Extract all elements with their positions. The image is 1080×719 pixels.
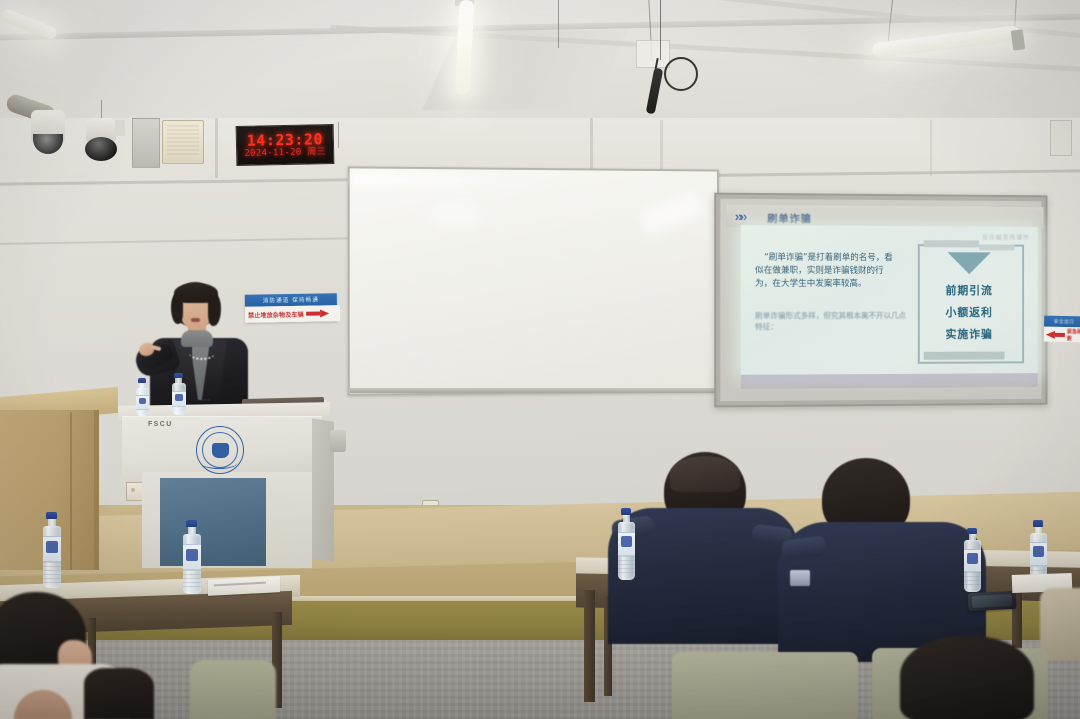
light-cap (1011, 29, 1025, 50)
light-suspension-wire (558, 0, 559, 48)
emblem-arc (201, 458, 237, 469)
slide-diagram-bar (979, 244, 1014, 250)
bottle-ridges (183, 570, 201, 590)
sign-body: 紧急疏散 (1044, 327, 1080, 343)
podium-blue-panel (160, 478, 266, 566)
sign-body-text: 禁止堆放杂物及车辆 (248, 309, 304, 319)
bottle-cap (46, 512, 57, 519)
screen-lower-shadow (741, 373, 1038, 389)
slide-diagram-bar (924, 240, 979, 247)
student-head-right (900, 636, 1034, 719)
bottle-cap (621, 508, 631, 515)
wall-seam (215, 118, 218, 178)
chair-back-left (190, 660, 276, 719)
sign-body: 禁止堆放杂物及车辆 (245, 305, 340, 323)
ceiling-mount-box (636, 40, 670, 68)
wall-access-plate (1050, 120, 1072, 156)
whiteboard-glare (352, 172, 554, 188)
podium-brand-text: FSCU (148, 421, 173, 428)
slide-paragraph-secondary: 刷单诈骗形式多样，但究其根本离不开以几点特征： (755, 310, 906, 333)
slide-step-2: 小额返利 (918, 304, 1020, 320)
bottle-ridges (964, 572, 981, 588)
sign-header-text: 消防通道 保持畅通 (263, 296, 319, 305)
student-hair-left (84, 668, 154, 719)
fire-exit-sign-left: 消防通道 保持畅通 禁止堆放杂物及车辆 (245, 293, 337, 323)
bottle-label-mark (1033, 546, 1044, 557)
outlet-socket (131, 488, 135, 492)
projection-screen: »» 刷单诈骗 反诈骗宣传课件 “刷单诈骗”是打着刷单的名号，看似在做兼职，实则… (714, 193, 1047, 408)
wall-seam (930, 120, 932, 176)
phone-screen (972, 594, 1013, 608)
microphone-cable (660, 0, 661, 60)
arrow-right-icon (306, 311, 320, 315)
bottle-label-mark (967, 553, 978, 564)
speaker-grille (167, 125, 199, 155)
bottle-neck (188, 527, 196, 534)
classroom-photo: 14:23:20 2024-11-20 周三 »» 刷单诈骗 反诈骗宣传课件 “… (0, 0, 1080, 719)
coat-on-chair (1040, 588, 1080, 660)
bottle-label-mark (139, 398, 146, 404)
wall-outlet-left (126, 482, 143, 501)
slide-title: 刷单诈骗 (767, 210, 812, 225)
bottle-ridges (43, 562, 61, 584)
wall-speaker-icon (162, 120, 204, 164)
sign-header: 安全出口 (1044, 316, 1080, 328)
arrow-left-head-icon (1046, 330, 1055, 338)
led-clock-display: 14:23:20 2024-11-20 周三 (236, 124, 335, 166)
arrow-right-head-icon (320, 309, 329, 317)
bottle-label-mark (46, 541, 58, 553)
whiteboard (348, 166, 719, 395)
clock-date: 2024-11-20 周三 (244, 148, 326, 159)
bottle-neck (48, 519, 56, 526)
bottle-cap (186, 520, 197, 527)
emblem-core (212, 443, 229, 458)
slide-content-area: 反诈骗宣传课件 “刷单诈骗”是打着刷单的名号，看似在做兼职，实则是诈骗钱财的行为… (741, 225, 1038, 375)
cabinet-edge (94, 410, 99, 570)
double-chevron-right-icon: »» (735, 208, 745, 224)
uniform-shoulder-badge (790, 570, 810, 586)
bottle-label-mark (621, 536, 632, 547)
bottle-label-mark (175, 394, 183, 401)
camera-lens-dome (85, 137, 117, 161)
sign-body-text: 紧急疏散 (1067, 328, 1080, 342)
slide-step-3: 实施诈骗 (918, 326, 1020, 342)
podium-control-knob[interactable] (330, 430, 346, 452)
whiteboard-glare (431, 203, 477, 225)
wall-metal-panel (132, 118, 160, 168)
slide-step-1: 前期引流 (918, 282, 1020, 298)
bottle-ridges (618, 556, 635, 576)
whiteboard-glare (638, 191, 704, 236)
microphone-cable-loop (664, 57, 698, 91)
bottle-cap (1033, 520, 1043, 527)
desk-leg (584, 590, 595, 702)
presenter-turtleneck (181, 330, 213, 347)
camera-bracket (115, 120, 125, 136)
fire-exit-sign-right: 安全出口 紧急疏散 (1044, 316, 1080, 343)
presenter-pearl-necklace (189, 346, 215, 360)
slide-watermark: 反诈骗宣传课件 (982, 233, 1030, 242)
presenter-mouth (191, 318, 200, 322)
chair-back-right-a (672, 652, 858, 719)
screen-surface: »» 刷单诈骗 反诈骗宣传课件 “刷单诈骗”是打着刷单的名号，看似在做兼职，实则… (720, 199, 1041, 402)
cabinet-door-seam (70, 412, 72, 570)
whiteboard-marker-tray (350, 388, 718, 393)
arrow-left-icon (1055, 332, 1065, 336)
bottle-neck (623, 515, 630, 522)
slide-paragraph: “刷单诈骗”是打着刷单的名号，看似在做兼职，实则是诈骗钱财的行为，在大学生中发案… (755, 252, 896, 292)
slide-diagram-bar (924, 352, 1005, 360)
clock-time: 14:23:20 (247, 132, 324, 149)
presenter-hair-side (171, 294, 183, 324)
bottle-label-mark (186, 549, 198, 561)
funnel-triangle-icon (948, 252, 991, 274)
sign-header-text: 安全出口 (1054, 318, 1075, 324)
clock-cable (338, 122, 339, 148)
officer-balding-scalp (670, 456, 740, 492)
